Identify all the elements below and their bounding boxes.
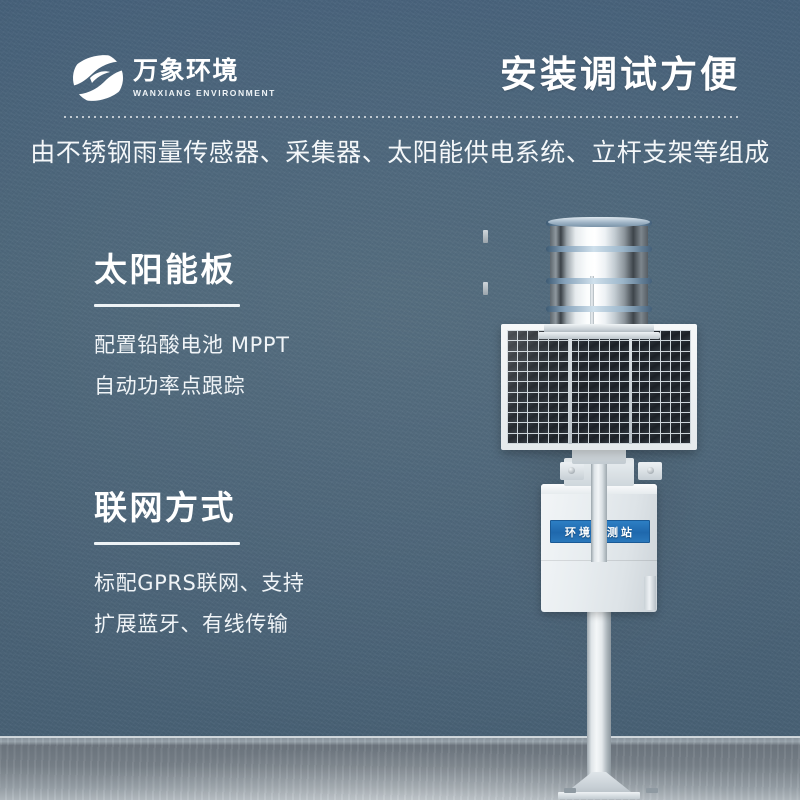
promo-banner: 万象环境 WANXIANG ENVIRONMENT 安装调试方便 由不锈钢雨量传… [0,0,800,800]
solar-cell [650,403,659,412]
solar-cell [600,382,609,391]
solar-cell [671,393,680,402]
rain-gauge-base-flange [538,332,660,339]
solar-cell [620,382,629,391]
solar-cell [518,362,527,371]
header: 万象环境 WANXIANG ENVIRONMENT 安装调试方便 [0,0,800,122]
solar-cell [650,393,659,402]
base-bolt [564,788,576,793]
solar-cell [620,352,629,361]
solar-cell [610,341,619,350]
solar-cell [559,372,568,381]
solar-cell [650,341,659,350]
solar-cell [549,341,558,350]
solar-cell [600,403,609,412]
solar-cell [579,434,588,443]
solar-cell [528,362,537,371]
hero-title: 安装调试方便 [500,44,740,98]
solar-cell [559,434,568,443]
solar-cell [589,393,598,402]
solar-cell [661,413,670,422]
solar-cell [559,352,568,361]
solar-cell [508,413,517,422]
logo-english-name: WANXIANG ENVIRONMENT [133,88,276,98]
solar-cell [589,403,598,412]
solar-cell [579,393,588,402]
solar-cell [661,382,670,391]
base-bolt [646,788,658,793]
solar-cell [671,331,680,340]
solar-cell [650,423,659,432]
solar-cell [539,382,548,391]
solar-cell [640,413,649,422]
solar-cell [671,382,680,391]
solar-cell [589,413,598,422]
solar-cell [528,393,537,402]
solar-cell [661,372,670,381]
solar-cell [650,352,659,361]
globe-swoosh-logo-icon [72,52,124,104]
solar-cell [579,352,588,361]
solar-cell [539,352,548,361]
solar-cell [681,331,690,340]
feature-line: 自动功率点跟踪 [94,366,290,407]
solar-cell [528,434,537,443]
solar-cell [620,403,629,412]
solar-cell [539,403,548,412]
solar-cell [559,382,568,391]
solar-cell [610,413,619,422]
solar-cell [661,434,670,443]
enclosure-latch [483,230,488,243]
solar-cell [518,423,527,432]
solar-cell [559,403,568,412]
bracket-bolt [568,467,575,474]
solar-cell [610,382,619,391]
solar-cell [600,341,609,350]
solar-cell [589,372,598,381]
solar-cell [640,362,649,371]
solar-cell [559,423,568,432]
brand-logo: 万象环境 WANXIANG ENVIRONMENT [72,52,276,104]
solar-cell [528,423,537,432]
solar-cell [539,434,548,443]
solar-cell [650,372,659,381]
solar-cell [661,362,670,371]
bracket-bolt [647,467,654,474]
solar-cell [600,352,609,361]
solar-cell [539,341,548,350]
solar-cell [559,393,568,402]
header-dotted-divider [62,116,738,118]
solar-cell [518,331,527,340]
solar-cell [549,352,558,361]
solar-cell [640,352,649,361]
solar-panel-busbar [569,330,572,444]
solar-cell [610,423,619,432]
solar-cell [559,362,568,371]
enclosure-latch [483,282,488,295]
solar-cell [610,393,619,402]
solar-cell [508,382,517,391]
solar-cell [549,362,558,371]
solar-cell [681,362,690,371]
enclosure-hinge [644,576,656,610]
solar-cell [528,403,537,412]
solar-cell [640,341,649,350]
solar-cell [528,331,537,340]
solar-cell [640,393,649,402]
solar-cell [640,382,649,391]
solar-cell [600,372,609,381]
solar-cell [661,423,670,432]
solar-cell [610,403,619,412]
solar-cell [508,434,517,443]
solar-panel [501,324,697,450]
rainfall-monitoring-station-device: 环境监测站 [486,196,736,800]
solar-cell [681,393,690,402]
rain-gauge-funnel-rim [548,217,650,227]
feature-title: 联网方式 [94,490,304,526]
solar-cell [620,393,629,402]
feature-underline [94,304,240,307]
solar-cell [579,382,588,391]
solar-cell [681,423,690,432]
solar-cell [640,434,649,443]
solar-cell [528,352,537,361]
solar-cell [600,434,609,443]
feature-line: 扩展蓝牙、有线传输 [94,604,304,645]
solar-cell [539,362,548,371]
solar-cell [508,403,517,412]
solar-cell [549,423,558,432]
solar-cell [681,403,690,412]
solar-cell [549,434,558,443]
solar-cell [528,413,537,422]
solar-cell [620,372,629,381]
solar-cell [579,423,588,432]
solar-cell [549,372,558,381]
solar-cell [579,372,588,381]
mast-base-plate [558,792,640,799]
solar-cell [671,403,680,412]
solar-cell [579,362,588,371]
solar-cell [620,413,629,422]
solar-cell [508,393,517,402]
solar-cell [549,403,558,412]
solar-cell [518,393,527,402]
feature-block-solar-panel: 太阳能板 配置铅酸电池 MPPT 自动功率点跟踪 [94,252,290,407]
solar-cell [589,352,598,361]
solar-cell [579,413,588,422]
solar-cell [589,423,598,432]
solar-cell [508,352,517,361]
solar-cell [681,352,690,361]
solar-cell [681,372,690,381]
solar-cell [640,403,649,412]
solar-cell [620,434,629,443]
feature-line: 配置铅酸电池 MPPT [94,325,290,366]
solar-cell [661,393,670,402]
solar-cell [518,382,527,391]
solar-cell [681,382,690,391]
solar-cell [589,382,598,391]
solar-cell [661,403,670,412]
solar-cell [508,341,517,350]
solar-cell [559,413,568,422]
solar-cell [650,362,659,371]
solar-cell [549,393,558,402]
solar-cell [518,413,527,422]
solar-cell [589,434,598,443]
solar-panel-cell-grid [507,330,691,444]
solar-cell [589,341,598,350]
solar-cell [600,393,609,402]
solar-cell [620,341,629,350]
solar-cell [661,331,670,340]
solar-cell [518,341,527,350]
solar-cell [671,423,680,432]
solar-cell [610,362,619,371]
solar-cell [539,423,548,432]
rain-gauge-ring [546,246,652,252]
solar-cell [671,372,680,381]
solar-cell [508,331,517,340]
solar-cell [620,362,629,371]
feature-title: 太阳能板 [94,252,290,288]
solar-cell [600,423,609,432]
solar-cell [671,434,680,443]
solar-cell [539,393,548,402]
solar-cell [539,372,548,381]
solar-cell [681,413,690,422]
solar-cell [518,352,527,361]
solar-cell [528,341,537,350]
solar-cell [579,403,588,412]
solar-cell [549,413,558,422]
solar-cell [518,403,527,412]
solar-cell [640,423,649,432]
solar-cell [589,362,598,371]
solar-cell [610,352,619,361]
solar-cell [681,434,690,443]
solar-cell [661,341,670,350]
solar-cell [508,423,517,432]
solar-cell [539,413,548,422]
solar-cell [661,352,670,361]
solar-cell [610,434,619,443]
solar-cell [528,372,537,381]
stainless-steel-rain-gauge-sensor [542,216,656,332]
solar-panel-busbar [629,330,632,444]
solar-cell [650,413,659,422]
solar-cell [620,423,629,432]
solar-cell [559,341,568,350]
solar-cell [579,341,588,350]
solar-cell [549,382,558,391]
feature-block-network-mode: 联网方式 标配GPRS联网、支持 扩展蓝牙、有线传输 [94,490,304,645]
feature-underline [94,542,240,545]
rain-gauge-ring [546,306,652,312]
solar-cell [671,362,680,371]
solar-cell [671,352,680,361]
solar-cell [610,372,619,381]
solar-cell [671,341,680,350]
solar-cell [508,372,517,381]
solar-cell [671,413,680,422]
solar-cell [681,341,690,350]
solar-cell [650,382,659,391]
solar-cell [528,382,537,391]
solar-cell [640,372,649,381]
solar-cell [518,434,527,443]
solar-cell [508,362,517,371]
logo-chinese-name: 万象环境 [133,58,276,84]
solar-cell [650,434,659,443]
header-subtitle: 由不锈钢雨量传感器、采集器、太阳能供电系统、立杆支架等组成 [0,133,800,169]
feature-line: 标配GPRS联网、支持 [94,563,304,604]
rain-gauge-ring [546,278,652,284]
solar-cell [518,372,527,381]
solar-cell [600,362,609,371]
solar-cell [600,413,609,422]
